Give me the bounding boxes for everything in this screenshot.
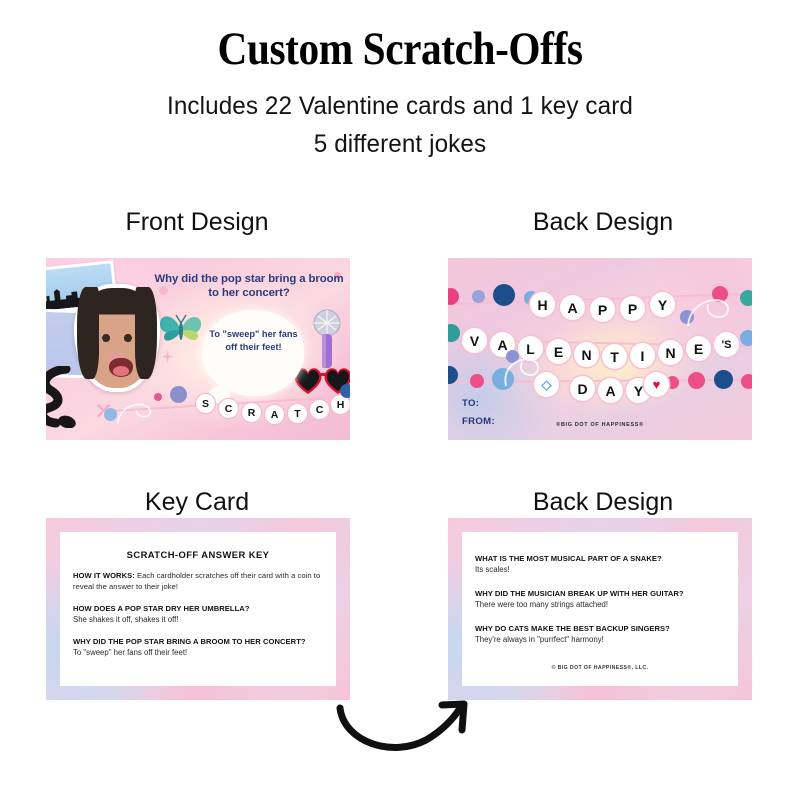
key-entry-question: WHY DID THE POP STAR BRING A BROOM TO HE… — [73, 637, 325, 648]
letter-bead: T — [288, 404, 307, 423]
back-design-card-2: WHAT IS THE MOST MUSICAL PART OF A SNAKE… — [448, 518, 752, 700]
poster-canvas: Custom Scratch-Offs Includes 22 Valentin… — [0, 0, 800, 800]
joke-entry: WHY DO CATS MAKE THE BEST BACKUP SINGERS… — [475, 624, 727, 645]
dot-icon — [493, 284, 515, 306]
key-entry-answer: She shakes it off, shakes it off! — [73, 615, 325, 626]
butterfly-icon — [158, 310, 204, 350]
joke-answer: They're always in "purrfect" harmony! — [475, 635, 727, 646]
letter-bead: P — [620, 296, 645, 321]
letter-bead: A — [265, 405, 284, 424]
joke-entry: WHY DID THE MUSICIAN BREAK UP WITH HER G… — [475, 589, 727, 610]
key-entry: HOW DOES A POP STAR DRY HER UMBRELLA? Sh… — [73, 604, 325, 625]
dot-icon — [470, 374, 484, 388]
page-title: Custom Scratch-Offs — [48, 22, 752, 76]
label-back-design: Back Design — [448, 208, 758, 237]
dot-icon — [472, 290, 485, 303]
back-design-card: H A P P Y V A L E N T I N E 'S ◇ D A — [448, 258, 752, 440]
squiggle-icon — [46, 366, 84, 428]
key-entry: WHY DID THE POP STAR BRING A BROOM TO HE… — [73, 637, 325, 658]
joke-entry: WHAT IS THE MOST MUSICAL PART OF A SNAKE… — [475, 554, 727, 575]
brand-mark: ®BIG DOT OF HAPPINESS® — [448, 422, 752, 428]
diamond-bead: ◇ — [534, 372, 559, 397]
letter-bead: R — [242, 403, 261, 422]
label-back-design-2: Back Design — [448, 488, 758, 517]
string-loop-icon — [684, 288, 736, 330]
sparkle-icon — [161, 350, 174, 363]
letter-bead: Y — [650, 292, 675, 317]
string-loop-icon — [116, 390, 156, 428]
front-card-answer: To "sweep" her fans off their feet! — [206, 328, 301, 354]
to-label: TO: — [462, 398, 479, 409]
letter-bead: S — [196, 394, 215, 413]
curved-arrow-icon — [330, 700, 480, 760]
letter-bead: E — [686, 336, 711, 361]
letter-bead: A — [598, 378, 623, 403]
key-card-heading: SCRATCH-OFF ANSWER KEY — [60, 549, 336, 560]
letter-bead: N — [658, 340, 683, 365]
letter-bead: I — [630, 343, 655, 368]
key-card-panel: SCRATCH-OFF ANSWER KEY HOW IT WORKS: Eac… — [60, 532, 336, 686]
letter-bead: T — [602, 344, 627, 369]
letter-bead: V — [462, 328, 487, 353]
dot-icon — [714, 370, 733, 389]
back-card-2-panel: WHAT IS THE MOST MUSICAL PART OF A SNAKE… — [462, 532, 738, 686]
letter-bead: P — [590, 297, 615, 322]
dot-icon — [170, 386, 187, 403]
letter-bead: D — [570, 376, 595, 401]
letter-bead: N — [574, 342, 599, 367]
key-entry-answer: To "sweep" her fans off their feet! — [73, 648, 325, 659]
joke-question: WHY DID THE MUSICIAN BREAK UP WITH HER G… — [475, 589, 727, 600]
brand-mark: © BIG DOT OF HAPPINESS®, LLC. — [462, 665, 738, 671]
label-front-design: Front Design — [42, 208, 352, 237]
lips-bead: ♥ — [644, 372, 669, 397]
letter-bead: C — [310, 400, 329, 419]
key-entry: HOW IT WORKS: Each cardholder scratches … — [73, 571, 325, 592]
key-entry-lead: HOW IT WORKS: — [73, 571, 135, 580]
dot-icon — [740, 330, 752, 346]
kid-face-photo — [74, 284, 160, 392]
letter-bead: 'S — [714, 332, 739, 357]
dot-icon — [340, 384, 350, 398]
subtitle-line-1: Includes 22 Valentine cards and 1 key ca… — [12, 92, 788, 121]
joke-question: WHAT IS THE MOST MUSICAL PART OF A SNAKE… — [475, 554, 727, 565]
dot-icon — [741, 374, 752, 389]
key-entry-question: HOW DOES A POP STAR DRY HER UMBRELLA? — [73, 604, 325, 615]
letter-bead: A — [560, 295, 585, 320]
front-card-question: Why did the pop star bring a broom to he… — [154, 272, 344, 300]
letter-bead: C — [219, 399, 238, 418]
dot-icon — [740, 290, 752, 306]
joke-answer: There were too many strings attached! — [475, 600, 727, 611]
key-card: SCRATCH-OFF ANSWER KEY HOW IT WORKS: Eac… — [46, 518, 350, 700]
joke-answer: Its scales! — [475, 565, 727, 576]
subtitle-line-2: 5 different jokes — [12, 130, 788, 159]
label-key-card: Key Card — [42, 488, 352, 517]
dot-icon — [688, 372, 705, 389]
joke-question: WHY DO CATS MAKE THE BEST BACKUP SINGERS… — [475, 624, 727, 635]
letter-bead: H — [530, 292, 555, 317]
microphone-icon — [310, 308, 344, 372]
front-design-card: ✕ — [46, 258, 350, 440]
